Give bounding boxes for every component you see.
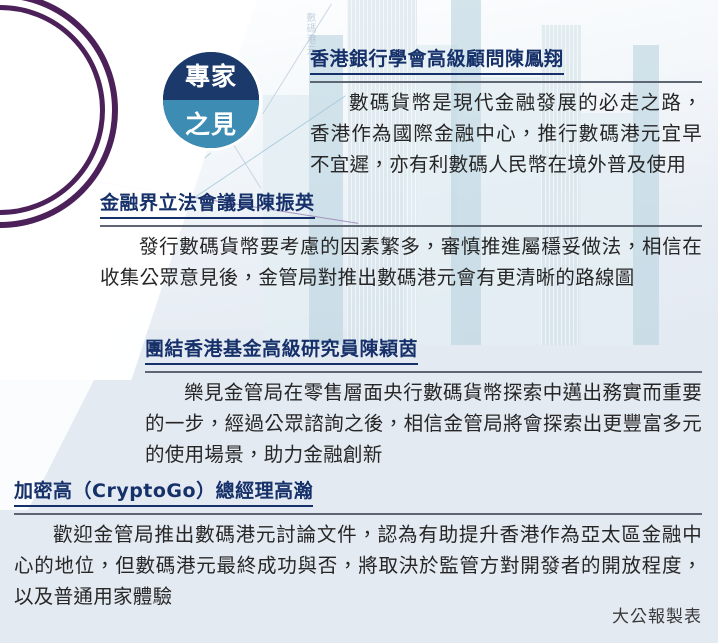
expert-quote-text: 數碼貨幣是現代金融發展的必走之路，香港作為國際金融中心，推行數碼港元宜早不宜遲，… <box>310 87 702 180</box>
expert-quote-block: 加密高（CryptoGo）總經理高瀚 歡迎金管局推出數碼港元討論文件，認為有助提… <box>14 480 702 612</box>
expert-quote-text: 樂見金管局在零售層面央行數碼貨幣探索中邁出務實而重要的一步，經過公眾諮詢之後，相… <box>145 377 702 470</box>
expert-name-heading: 金融界立法會議員陳振英 <box>100 192 315 219</box>
expert-quote-block: 團結香港基金高級研究員陳穎茵 樂見金管局在零售層面央行數碼貨幣探索中邁出務實而重… <box>145 338 702 470</box>
expert-quote-text: 歡迎金管局推出數碼港元討論文件，認為有助提升香港作為亞太區金融中心的地位，但數碼… <box>14 519 702 612</box>
expert-views-badge: 專家 之見 <box>163 52 259 148</box>
heading-divider-rule <box>310 81 702 83</box>
source-credit: 大公報製表 <box>612 602 702 627</box>
badge-label-line1: 專家 <box>185 64 237 89</box>
expert-quote-block: 香港銀行學會高級顧問陳鳳翔 數碼貨幣是現代金融發展的必走之路，香港作為國際金融中… <box>310 48 702 180</box>
heading-divider-rule <box>14 513 702 515</box>
expert-quote-text: 發行數碼貨幣要考慮的因素繁多，審慎推進屬穩妥做法，相信在收集公眾意見後，金管局對… <box>100 231 702 293</box>
expert-name-heading: 團結香港基金高級研究員陳穎茵 <box>145 338 418 365</box>
badge-label-line2: 之見 <box>185 112 237 137</box>
infographic-canvas: 數碼港元 專家 之見 香港銀行學會高級顧問陳鳳翔 數碼貨幣是現代金融發展的必走之… <box>0 0 718 643</box>
expert-quote-block: 金融界立法會議員陳振英 發行數碼貨幣要考慮的因素繁多，審慎推進屬穩妥做法，相信在… <box>100 192 702 293</box>
heading-divider-rule <box>145 371 702 373</box>
expert-name-heading: 加密高（CryptoGo）總經理高瀚 <box>14 480 313 507</box>
badge-top-half: 專家 <box>163 52 259 100</box>
heading-divider-rule <box>100 225 702 227</box>
badge-bottom-half: 之見 <box>163 100 259 148</box>
coin-inner-ring <box>0 5 105 215</box>
expert-name-heading: 香港銀行學會高級顧問陳鳳翔 <box>310 48 564 75</box>
